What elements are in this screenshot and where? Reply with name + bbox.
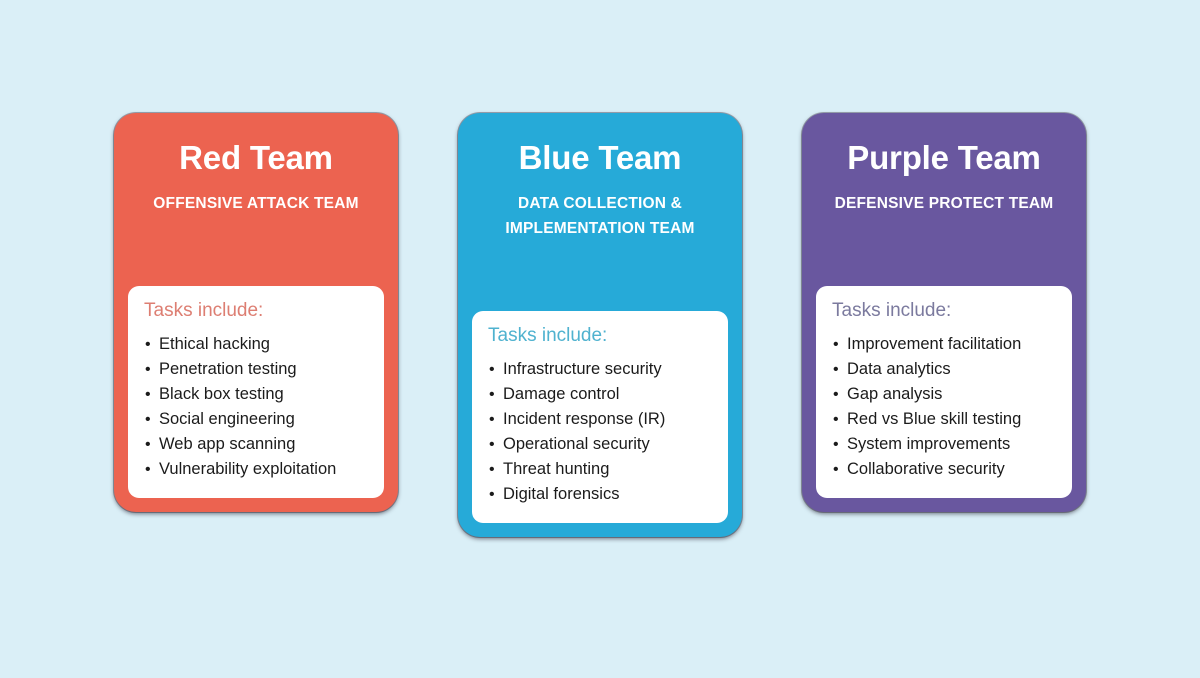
tasks-heading-blue-team: Tasks include: <box>488 325 712 348</box>
list-item: Digital forensics <box>488 482 712 507</box>
card-blue-team: Blue Team DATA COLLECTION & IMPLEMENTATI… <box>458 113 742 537</box>
card-subtitle-blue-team: DATA COLLECTION & IMPLEMENTATION TEAM <box>472 191 728 241</box>
list-item: Ethical hacking <box>144 332 368 357</box>
list-item: Data analytics <box>832 357 1056 382</box>
tasks-heading-purple-team: Tasks include: <box>832 300 1056 323</box>
list-item: Gap analysis <box>832 382 1056 407</box>
list-item: Vulnerability exploitation <box>144 457 368 482</box>
list-item: Social engineering <box>144 407 368 432</box>
list-item: Threat hunting <box>488 457 712 482</box>
tasks-list-red-team: Ethical hacking Penetration testing Blac… <box>144 332 368 482</box>
card-subtitle-purple-team: DEFENSIVE PROTECT TEAM <box>816 191 1072 216</box>
card-red-team: Red Team OFFENSIVE ATTACK TEAM Tasks inc… <box>114 113 398 512</box>
card-spacer <box>816 216 1072 286</box>
card-title-purple-team: Purple Team <box>816 139 1072 177</box>
card-purple-team: Purple Team DEFENSIVE PROTECT TEAM Tasks… <box>802 113 1086 512</box>
list-item: Penetration testing <box>144 357 368 382</box>
tasks-list-purple-team: Improvement facilitation Data analytics … <box>832 332 1056 482</box>
list-item: Incident response (IR) <box>488 407 712 432</box>
list-item: Operational security <box>488 432 712 457</box>
tasks-heading-red-team: Tasks include: <box>144 300 368 323</box>
list-item: System improvements <box>832 432 1056 457</box>
list-item: Red vs Blue skill testing <box>832 407 1056 432</box>
card-spacer <box>128 216 384 286</box>
tasks-panel-red-team: Tasks include: Ethical hacking Penetrati… <box>128 286 384 498</box>
list-item: Web app scanning <box>144 432 368 457</box>
list-item: Infrastructure security <box>488 357 712 382</box>
card-subtitle-red-team: OFFENSIVE ATTACK TEAM <box>128 191 384 216</box>
tasks-list-blue-team: Infrastructure security Damage control I… <box>488 357 712 507</box>
card-title-blue-team: Blue Team <box>472 139 728 177</box>
list-item: Collaborative security <box>832 457 1056 482</box>
card-spacer <box>472 241 728 311</box>
card-title-red-team: Red Team <box>128 139 384 177</box>
team-cards-board: Red Team OFFENSIVE ATTACK TEAM Tasks inc… <box>0 0 1200 678</box>
list-item: Improvement facilitation <box>832 332 1056 357</box>
tasks-panel-purple-team: Tasks include: Improvement facilitation … <box>816 286 1072 498</box>
list-item: Black box testing <box>144 382 368 407</box>
tasks-panel-blue-team: Tasks include: Infrastructure security D… <box>472 311 728 523</box>
list-item: Damage control <box>488 382 712 407</box>
